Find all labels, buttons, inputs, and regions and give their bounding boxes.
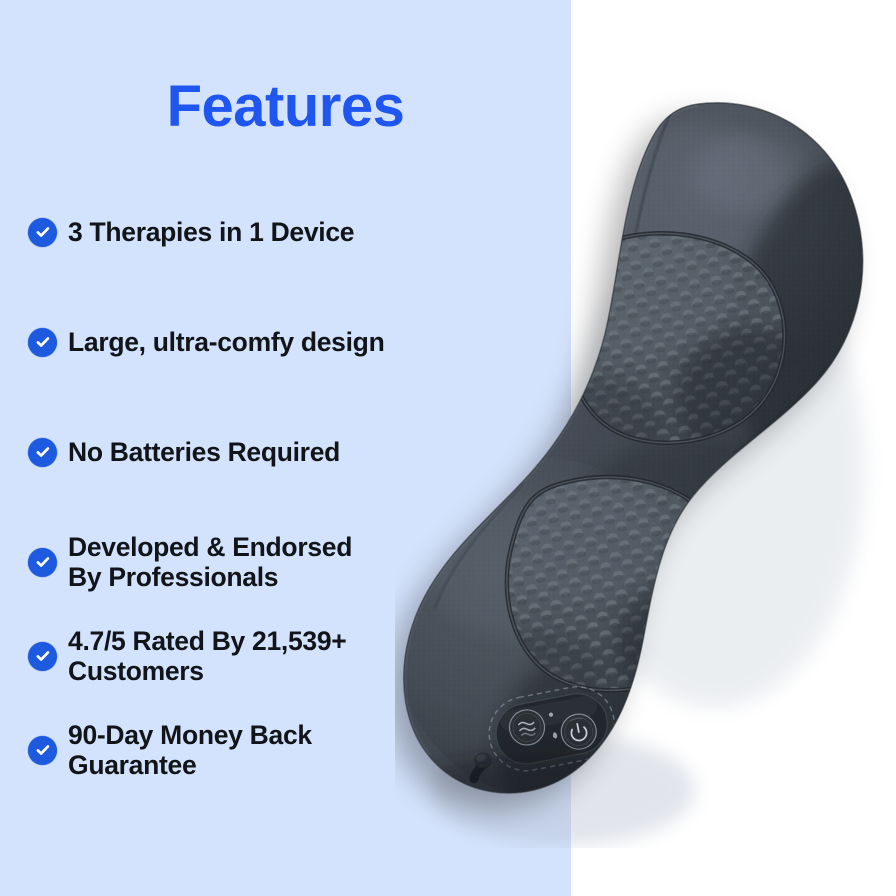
page-title: Features: [0, 78, 571, 136]
feature-label: No Batteries Required: [68, 437, 340, 467]
check-circle-icon: [28, 218, 57, 247]
feature-item-design: Large, ultra-comfy design: [28, 306, 568, 378]
feature-item-professionals: Developed & Endorsed By Professionals: [28, 526, 568, 598]
feature-label: Large, ultra-comfy design: [68, 327, 384, 357]
features-list: 3 Therapies in 1 Device Large, ultra-com…: [28, 196, 568, 808]
feature-item-guarantee: 90-Day Money Back Guarantee: [28, 714, 568, 786]
feature-item-therapies: 3 Therapies in 1 Device: [28, 196, 568, 268]
check-circle-icon: [28, 736, 57, 765]
product-feature-graphic: Features 3 Therapies in 1 Device Large, …: [0, 0, 896, 896]
feature-item-batteries: No Batteries Required: [28, 416, 568, 488]
feature-label: 3 Therapies in 1 Device: [68, 217, 354, 247]
feature-label: Developed & Endorsed By Professionals: [68, 532, 352, 592]
feature-label: 90-Day Money Back Guarantee: [68, 720, 312, 780]
check-circle-icon: [28, 548, 57, 577]
feature-label: 4.7/5 Rated By 21,539+ Customers: [68, 626, 346, 686]
check-circle-icon: [28, 642, 57, 671]
check-circle-icon: [28, 438, 57, 467]
feature-item-rating: 4.7/5 Rated By 21,539+ Customers: [28, 620, 568, 692]
check-circle-icon: [28, 328, 57, 357]
